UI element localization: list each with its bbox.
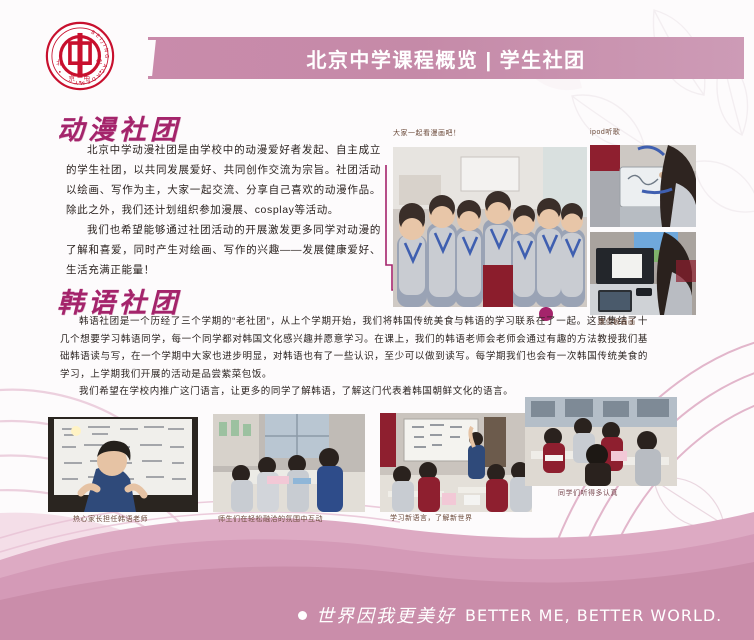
school-logo-icon: BEIJING ACADEMY 北京 中学 xyxy=(44,20,116,92)
footer-slogan-cn: 世界因我更美好 xyxy=(316,602,456,628)
photo-caption-anime-group: 大家一起看漫画吧！ xyxy=(393,128,461,138)
footer-slogan-en: BETTER ME, BETTER WORLD. xyxy=(465,606,722,625)
photo-caption-scanner: 数位板画画 xyxy=(598,317,636,327)
svg-text:京: 京 xyxy=(68,73,75,82)
page-header: BEIJING ACADEMY 北京 中学 北京中学课程概览 | 学生社团 xyxy=(0,0,754,108)
photo-teacher xyxy=(48,417,198,512)
anime-paragraph-1: 北京中学动漫社团是由学校中的动漫爱好者发起、自主成立的学生社团，以共同发展爱好、… xyxy=(66,140,381,220)
photo-ipod xyxy=(590,145,696,227)
photo-caption-table: 师生们在轻松融洽的氛围中互动 xyxy=(218,514,323,524)
svg-text:中: 中 xyxy=(84,73,90,82)
photo-caption-teacher: 热心家长担任韩语老师 xyxy=(73,514,148,524)
svg-text:学: 学 xyxy=(96,58,103,67)
anime-paragraph-2: 我们也希望能够通过社团活动的开展激发更多同学对动漫的了解和喜爱，同时产生对绘画、… xyxy=(66,220,381,280)
korean-paragraph-1: 韩语社团是一个历经了三个学期的“老社团”，从上个学期开始，我们将韩国传统美食与韩… xyxy=(60,313,648,383)
photo-listen xyxy=(525,397,677,486)
photo-caption-class: 学习新语言，了解新世界 xyxy=(390,513,473,523)
page-title-bar: 北京中学课程概览 | 学生社团 xyxy=(148,37,744,79)
page-title: 北京中学课程概览 | 学生社团 xyxy=(306,44,585,73)
poster-page: BEIJING ACADEMY 北京 中学 北京中学课程概览 | 学生社团 动漫… xyxy=(0,0,754,640)
photo-scanner xyxy=(590,232,696,315)
section-body-korean: 韩语社团是一个历经了三个学期的“老社团”，从上个学期开始，我们将韩国传统美食与韩… xyxy=(60,313,648,401)
photo-caption-ipod: ipod听歌 xyxy=(590,127,620,137)
footer-slogan: 世界因我更美好 BETTER ME, BETTER WORLD. xyxy=(298,602,722,628)
section-body-anime: 北京中学动漫社团是由学校中的动漫爱好者发起、自主成立的学生社团，以共同发展爱好、… xyxy=(66,140,381,280)
bullet-dot-icon xyxy=(298,611,307,620)
svg-text:北: 北 xyxy=(56,59,63,67)
photo-table xyxy=(213,414,365,512)
photo-caption-listen: 同学们听得多认真 xyxy=(558,488,618,498)
photo-anime-group xyxy=(393,147,587,307)
photo-class xyxy=(380,413,532,512)
